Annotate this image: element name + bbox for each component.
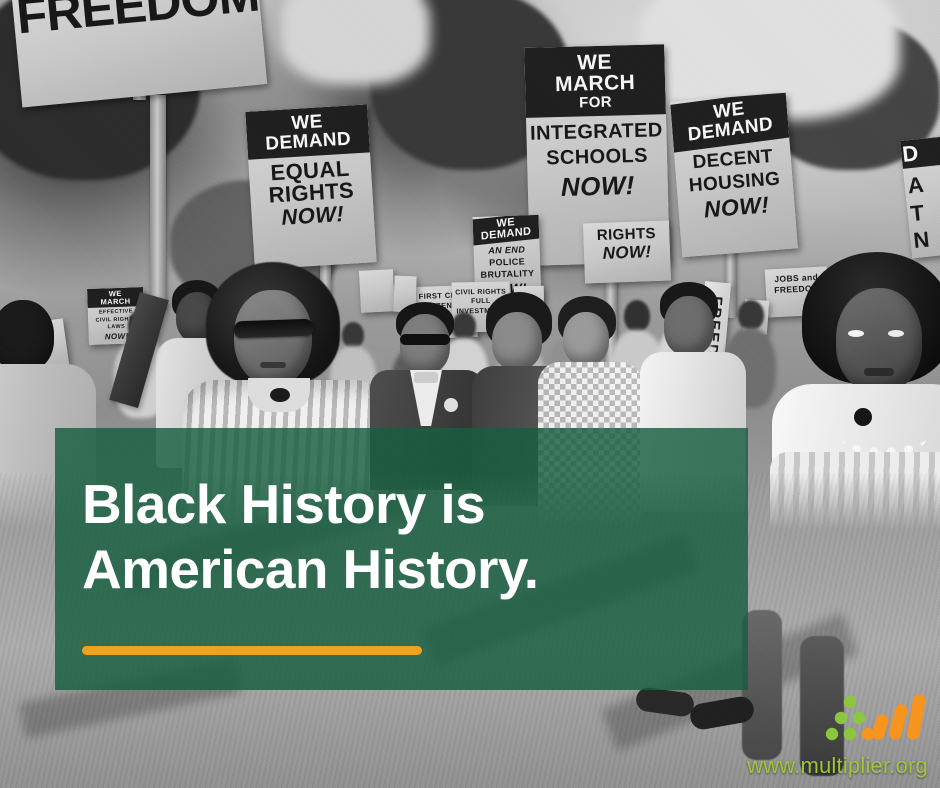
figure-head bbox=[0, 300, 54, 372]
sky-gap-upper-left bbox=[280, 0, 430, 85]
logo-dot-green-bottom-mid bbox=[844, 728, 856, 740]
sign-housing-body: DECENT HOUSING NOW! bbox=[674, 140, 796, 230]
mouth bbox=[260, 362, 286, 368]
brooch bbox=[854, 408, 872, 426]
logo-bar-orange-medium bbox=[888, 703, 909, 741]
eye-right bbox=[888, 330, 904, 337]
sign-edge-body: A T N bbox=[903, 164, 940, 259]
poster-canvas: FREEDOM WE DEMAND EQUAL RIGHTS NOW! WE M… bbox=[0, 0, 940, 788]
sign-edge-right: D A T N bbox=[900, 136, 940, 259]
crowd-head-7 bbox=[738, 300, 764, 330]
figure-head bbox=[563, 312, 609, 366]
band-line-3: FOR bbox=[527, 93, 663, 112]
placard-bg-1 bbox=[359, 269, 395, 313]
sunglasses-icon bbox=[234, 319, 315, 339]
sign-equal-rights: WE DEMAND EQUAL RIGHTS NOW! bbox=[245, 104, 376, 269]
figure-head bbox=[234, 290, 312, 386]
figure-head bbox=[664, 296, 714, 356]
sign-freedom: FREEDOM bbox=[11, 0, 268, 108]
logo-dot-green-top bbox=[844, 696, 856, 708]
site-url-text[interactable]: www.multiplier.org bbox=[747, 753, 928, 779]
logo-dot-green-bottom-left bbox=[826, 728, 838, 740]
lapel-flower bbox=[444, 398, 458, 412]
logo-bar-orange-tall bbox=[906, 693, 926, 740]
sign-decent-housing: WE DEMAND DECENT HOUSING NOW! bbox=[670, 93, 798, 258]
sign-equal-rights-body: EQUAL RIGHTS NOW! bbox=[248, 152, 374, 235]
sign-now: NOW! bbox=[587, 242, 668, 264]
sign-line-2: SCHOOLS bbox=[530, 143, 665, 171]
logo-dot-green-mid-right bbox=[853, 712, 865, 724]
multiplier-logo[interactable] bbox=[824, 692, 928, 746]
figure-head bbox=[836, 288, 922, 392]
eye-left bbox=[848, 330, 864, 337]
band-line-2: MARCH bbox=[88, 297, 142, 307]
sign-integrated-band: WE MARCH FOR bbox=[524, 44, 666, 118]
sign-now: NOW! bbox=[530, 168, 665, 204]
sign-line-1: RIGHTS bbox=[586, 225, 667, 245]
sign-rights-body: RIGHTS NOW! bbox=[583, 221, 671, 269]
bow-tie bbox=[414, 372, 438, 383]
leg-left bbox=[742, 610, 782, 760]
accent-underline bbox=[82, 646, 422, 655]
sign-edge-band: D bbox=[900, 136, 940, 170]
sign-line-1: INTEGRATED bbox=[529, 118, 664, 146]
crowd-head-2 bbox=[452, 312, 476, 340]
figure-head bbox=[492, 312, 542, 370]
headline-overlay-panel: Black History is American History. bbox=[55, 428, 748, 690]
page-title: Black History is American History. bbox=[82, 472, 748, 603]
sign-line-3: BRUTALITY bbox=[477, 268, 537, 282]
sign-rights-now: RIGHTS NOW! bbox=[583, 221, 671, 284]
neck-bow bbox=[270, 388, 290, 402]
mouth bbox=[864, 368, 894, 376]
band-line-1: D bbox=[901, 139, 940, 167]
sign-freedom-text: FREEDOM bbox=[11, 0, 262, 47]
crowd-head-10 bbox=[342, 322, 364, 348]
sign-post-freedom bbox=[150, 95, 166, 310]
logo-bar-orange-short bbox=[870, 713, 890, 742]
sign-integrated-body: INTEGRATED SCHOOLS NOW! bbox=[526, 114, 668, 208]
pearl-necklace bbox=[842, 422, 926, 456]
sign-line-1: A bbox=[906, 168, 940, 200]
logo-dot-green-mid-left bbox=[835, 712, 847, 724]
multiplier-logo-icon bbox=[824, 692, 928, 746]
crowd-head-5 bbox=[624, 300, 650, 332]
sign-equal-rights-band: WE DEMAND bbox=[245, 104, 370, 159]
sign-line-2: T bbox=[909, 196, 940, 228]
sunglasses-icon bbox=[400, 334, 450, 345]
sign-line-3: N bbox=[912, 223, 940, 255]
